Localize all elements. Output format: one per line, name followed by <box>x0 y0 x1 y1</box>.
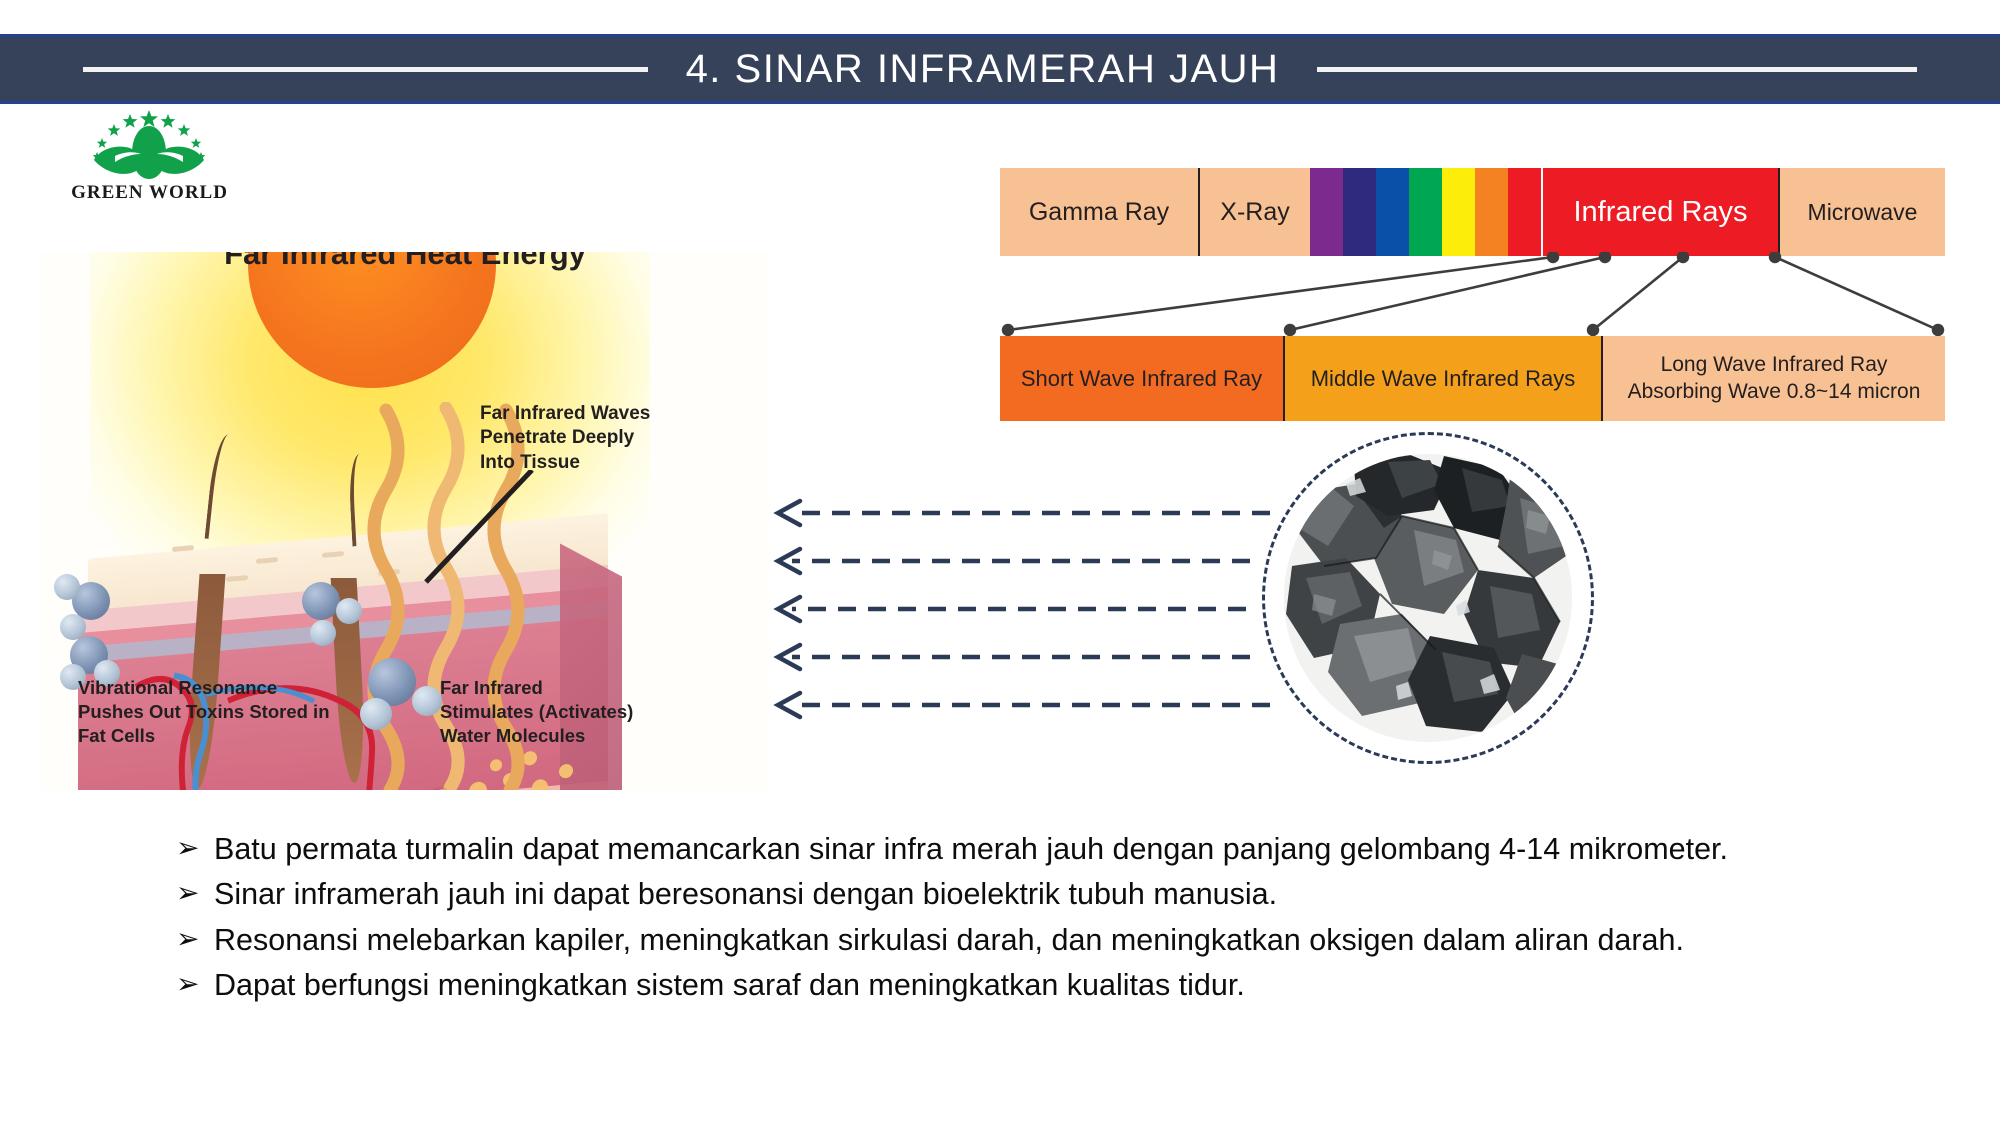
bullet-list: ➢ Batu permata turmalin dapat memancarka… <box>176 828 1876 1009</box>
tourmaline-stone-figure <box>1262 432 1594 764</box>
bullet-marker-icon: ➢ <box>176 828 214 869</box>
wave-box-long-wave-line2: Absorbing Wave 0.8~14 micron <box>1628 379 1921 405</box>
spectrum-band-red <box>1508 168 1541 256</box>
slide-header-bar: 4. SINAR INFRAMERAH JAUH <box>0 34 2000 104</box>
spectrum-cell-microwave: Microwave <box>1780 168 1945 256</box>
bullet-marker-icon: ➢ <box>176 964 214 1005</box>
list-item-text: Sinar inframerah jauh ini dapat beresona… <box>214 873 1876 916</box>
spectrum-cell-gamma-ray: Gamma Ray <box>1000 168 1200 256</box>
list-item: ➢ Batu permata turmalin dapat memancarka… <box>176 828 1876 871</box>
list-item-text: Resonansi melebarkan kapiler, meningkatk… <box>214 919 1876 962</box>
wave-box-long-wave: Long Wave Infrared Ray Absorbing Wave 0.… <box>1603 336 1945 421</box>
spectrum-to-waveboxes-connectors <box>1000 252 1945 337</box>
spectrum-cell-x-ray: X-Ray <box>1200 168 1310 256</box>
green-world-lotus-icon <box>74 110 224 182</box>
spectrum-band-blue <box>1376 168 1409 256</box>
header-rule-left <box>83 67 648 72</box>
list-item: ➢ Resonansi melebarkan kapiler, meningka… <box>176 919 1876 962</box>
wave-box-long-wave-line1: Long Wave Infrared Ray <box>1628 352 1921 378</box>
tourmaline-stones-image <box>1284 454 1572 742</box>
bullet-marker-icon: ➢ <box>176 919 214 960</box>
header-rule-right <box>1317 67 1917 72</box>
far-infrared-skin-illustration: Far Infrared Heat Energy <box>40 252 770 790</box>
spectrum-band-violet <box>1310 168 1343 256</box>
infrared-subband-boxes: Short Wave Infrared Ray Middle Wave Infr… <box>1000 336 1945 421</box>
spectrum-band-orange <box>1475 168 1508 256</box>
brand-logo: GREEN WORLD <box>62 110 242 210</box>
spectrum-band-indigo <box>1343 168 1376 256</box>
list-item-text: Batu permata turmalin dapat memancarkan … <box>214 828 1876 871</box>
list-item: ➢ Sinar inframerah jauh ini dapat bereso… <box>176 873 1876 916</box>
infrared-emission-arrows <box>770 495 1330 745</box>
caption-vibrational-resonance: Vibrational Resonance Pushes Out Toxins … <box>78 676 368 748</box>
spectrum-cell-infrared-rays: Infrared Rays <box>1541 168 1780 256</box>
wave-box-short-wave: Short Wave Infrared Ray <box>1000 336 1285 421</box>
spectrum-band-green <box>1409 168 1442 256</box>
fir-penetration-annotation: Far Infrared Waves Penetrate Deeply Into… <box>480 402 680 475</box>
caption-water-molecules: Far Infrared Stimulates (Activates) Wate… <box>440 676 670 748</box>
brand-logo-text: GREEN WORLD <box>62 182 237 204</box>
list-item-text: Dapat berfungsi meningkatkan sistem sara… <box>214 964 1876 1007</box>
list-item: ➢ Dapat berfungsi meningkatkan sistem sa… <box>176 964 1876 1007</box>
skin-diagram-title: Far Infrared Heat Energy <box>40 252 770 272</box>
page-title: 4. SINAR INFRAMERAH JAUH <box>686 47 1280 92</box>
electromagnetic-spectrum-bar: Gamma Ray X-Ray Infrared Rays Microwave <box>1000 168 1945 256</box>
spectrum-band-yellow <box>1442 168 1475 256</box>
wave-box-middle-wave: Middle Wave Infrared Rays <box>1285 336 1603 421</box>
annotation-leader-line <box>420 470 538 588</box>
bullet-marker-icon: ➢ <box>176 873 214 914</box>
